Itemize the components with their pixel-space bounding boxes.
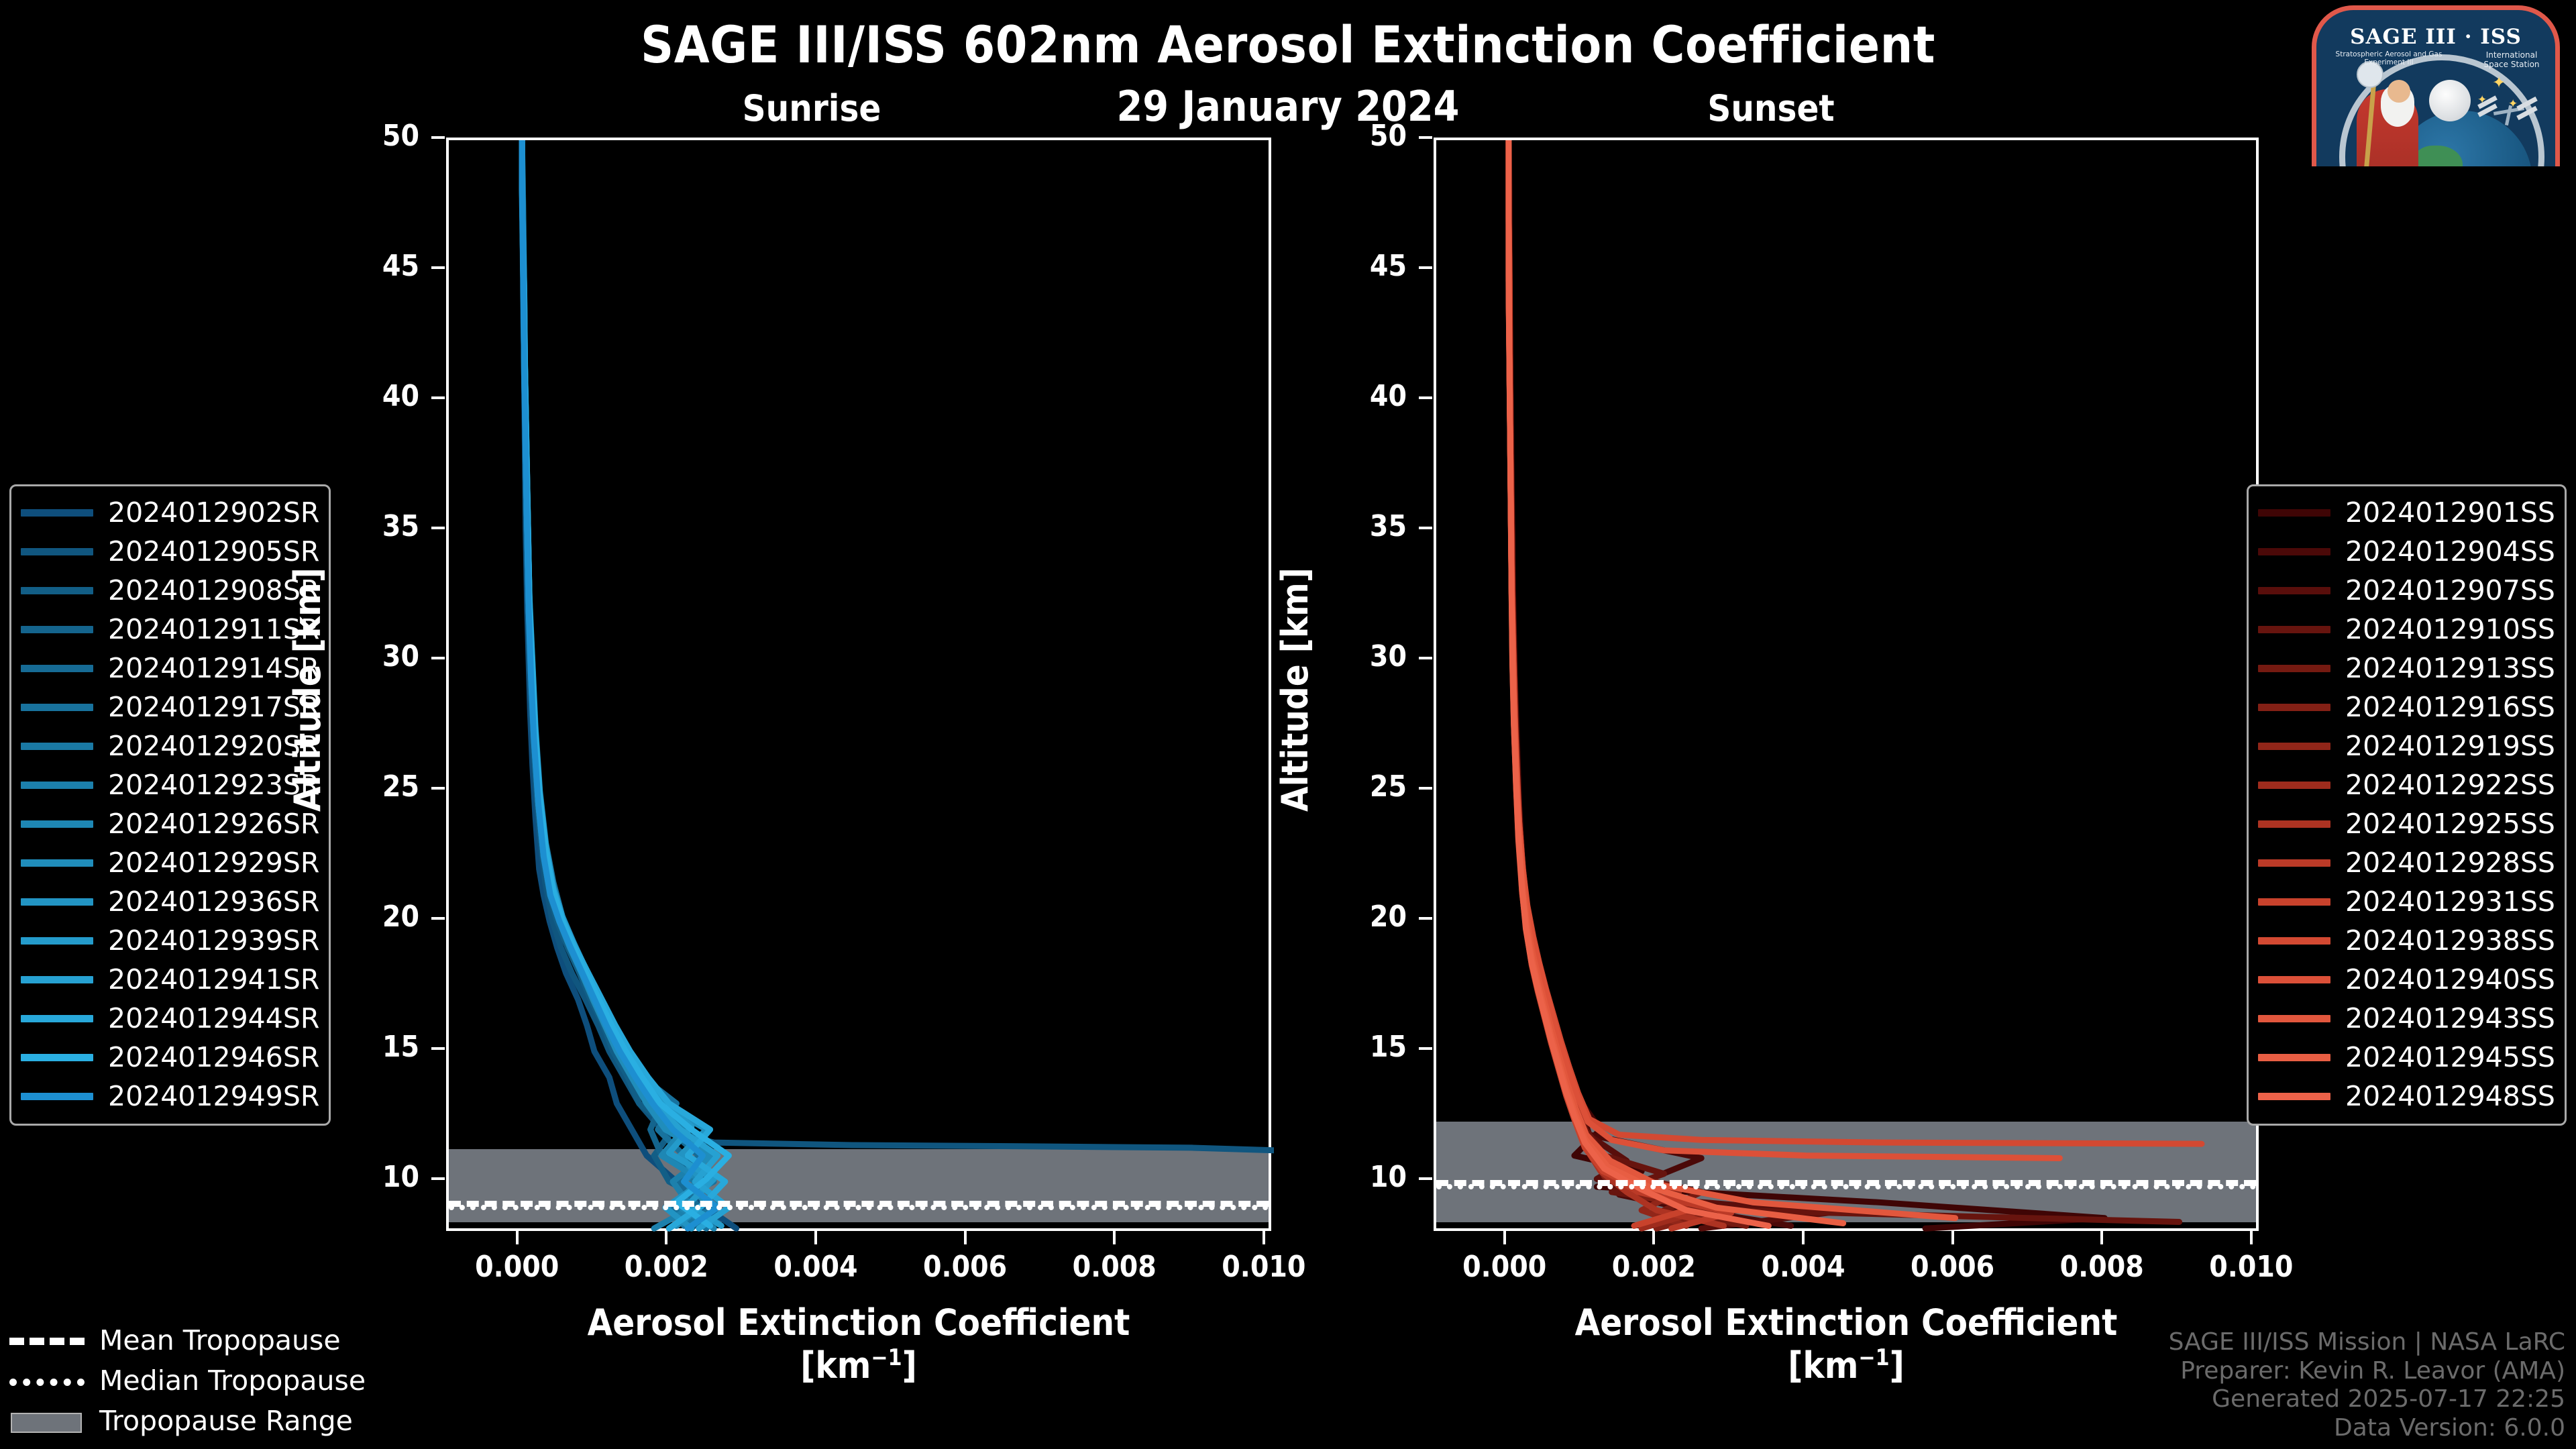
series-line [1509, 140, 2104, 1228]
y-axis-tick-mark [431, 1177, 445, 1180]
y-axis-tick-label: 40 [319, 379, 419, 413]
star-icon: ✦ [2492, 74, 2506, 91]
x-axis-tick-label: 0.004 [742, 1250, 890, 1284]
plot-panel-sunset [1434, 138, 2259, 1231]
x-axis-tick-mark [1263, 1231, 1265, 1244]
x-axis-label-line1: Aerosol Extinction Coefficient [1434, 1301, 2259, 1344]
legend-color-swatch [21, 898, 93, 906]
legend-item[interactable]: 2024012948SS [2258, 1077, 2555, 1116]
x-axis-tick-label: 0.010 [1190, 1250, 1338, 1284]
y-axis-tick-label: 25 [319, 769, 419, 804]
legend-color-swatch [21, 665, 93, 672]
x-axis-label-units: [km−1] [446, 1344, 1271, 1387]
dashed-line-icon [9, 1338, 85, 1345]
legend-item[interactable]: 2024012939SR [21, 921, 319, 960]
series-line [1509, 140, 1746, 1226]
x-axis-tick-mark [1951, 1231, 1954, 1244]
legend-color-swatch [2258, 704, 2330, 711]
sage-iii-iss-mission-patch-logo: ✦ ✦ ✦ SAGE III · ISS Stratospheric Aeros… [2302, 5, 2560, 166]
legend-item-label: 2024012910SS [2345, 613, 2555, 645]
legend-item[interactable]: 2024012929SR [21, 843, 319, 882]
x-axis-label: Aerosol Extinction Coefficient[km−1] [446, 1301, 1271, 1387]
x-axis-tick-label: 0.010 [2178, 1250, 2325, 1284]
legend-item[interactable]: 2024012943SS [2258, 999, 2555, 1038]
x-axis-tick-mark [1652, 1231, 1655, 1244]
profile-curves [1436, 140, 2261, 1234]
y-axis-tick-mark [431, 396, 445, 399]
legend-item-label: 2024012929SR [108, 847, 319, 879]
page-title: SAGE III/ISS 602nm Aerosol Extinction Co… [0, 15, 2576, 74]
y-axis-tick-label: 25 [1306, 769, 1407, 804]
y-axis-label: Altitude [km] [286, 568, 329, 812]
legend-item-label: 2024012936SR [108, 885, 319, 918]
y-axis-tick-mark [1419, 527, 1432, 529]
legend-item-label: 2024012940SS [2345, 963, 2555, 996]
legend-item-label: 2024012931SS [2345, 885, 2555, 918]
y-axis-tick-mark [1419, 917, 1432, 920]
y-axis-tick-label: 30 [1306, 639, 1407, 674]
x-axis-tick-mark [2250, 1231, 2253, 1244]
legend-item[interactable]: 2024012940SS [2258, 960, 2555, 999]
legend-item-label: 2024012913SS [2345, 652, 2555, 684]
legend-color-swatch [21, 782, 93, 789]
y-axis-tick-label: 35 [319, 509, 419, 543]
figure-face [2387, 80, 2410, 103]
legend-item[interactable]: 2024012910SS [2258, 610, 2555, 649]
legend-item-label: 2024012948SS [2345, 1080, 2555, 1112]
y-axis-tick-label: 15 [319, 1030, 419, 1064]
legend-item[interactable]: 2024012922SS [2258, 765, 2555, 804]
legend-color-swatch [21, 859, 93, 867]
tropopause-legend-item: Median Tropopause [9, 1360, 366, 1401]
y-axis-tick-label: 50 [319, 119, 419, 153]
y-axis-tick-mark [1419, 1047, 1432, 1050]
x-axis-label-line1: Aerosol Extinction Coefficient [446, 1301, 1271, 1344]
legend-item-label: 2024012901SS [2345, 496, 2555, 529]
dotted-line-icon [9, 1379, 85, 1386]
legend-item-label: 2024012944SR [108, 1002, 319, 1034]
y-axis-tick-mark [1419, 136, 1432, 139]
legend-color-swatch [21, 1015, 93, 1022]
legend-item-label: 2024012949SR [108, 1080, 319, 1112]
legend-color-swatch [21, 704, 93, 711]
x-axis-tick-mark [665, 1231, 667, 1244]
panel-title-sunrise: Sunrise [604, 87, 1020, 129]
y-axis-tick-label: 15 [1306, 1030, 1407, 1064]
tropopause-legend-item: Mean Tropopause [9, 1320, 366, 1360]
patch-shape: ✦ ✦ ✦ SAGE III · ISS Stratospheric Aeros… [2312, 5, 2560, 166]
legend-color-swatch [21, 937, 93, 945]
legend-item-label: 2024012916SS [2345, 691, 2555, 723]
plot-area-sunset [1434, 138, 2259, 1231]
legend-item-label: 2024012907SS [2345, 574, 2555, 606]
series-line [1509, 140, 1716, 1228]
legend-item[interactable]: 2024012928SS [2258, 843, 2555, 882]
legend-color-swatch [21, 587, 93, 594]
legend-color-swatch [21, 1054, 93, 1061]
series-line [1509, 140, 1791, 1226]
x-axis-tick-label: 0.000 [1431, 1250, 1578, 1284]
legend-item-label: 2024012925SS [2345, 808, 2555, 840]
legend-color-swatch [2258, 548, 2330, 555]
legend-item-label: 2024012922SS [2345, 769, 2555, 801]
plot-area-sunrise [446, 138, 1271, 1231]
series-line [522, 140, 714, 1228]
y-axis-tick-label: 10 [1306, 1160, 1407, 1194]
x-axis-tick-mark [814, 1231, 817, 1244]
legend-item[interactable]: 2024012901SS [2258, 493, 2555, 532]
x-axis-tick-label: 0.004 [1729, 1250, 1877, 1284]
legend-item-label: 2024012943SS [2345, 1002, 2555, 1034]
legend-color-swatch [2258, 859, 2330, 867]
legend-item[interactable]: 2024012931SS [2258, 882, 2555, 921]
x-axis-label: Aerosol Extinction Coefficient[km−1] [1434, 1301, 2259, 1387]
median-tropopause-line [1436, 1184, 2256, 1189]
x-axis-tick-mark [1503, 1231, 1506, 1244]
iss-station-icon [2477, 99, 2542, 135]
x-axis-tick-label: 0.006 [1879, 1250, 2027, 1284]
y-axis-tick-mark [431, 1047, 445, 1050]
series-line [1509, 140, 1686, 1226]
legend-item-label: 2024012941SR [108, 963, 319, 996]
y-axis-tick-mark [1419, 657, 1432, 659]
legend-color-swatch [2258, 937, 2330, 945]
y-axis-tick-label: 20 [319, 900, 419, 934]
legend-item[interactable]: 2024012907SS [2258, 571, 2555, 610]
x-axis-tick-label: 0.008 [2028, 1250, 2176, 1284]
legend-item[interactable]: 2024012919SS [2258, 727, 2555, 765]
legend-item-label: 2024012919SS [2345, 730, 2555, 762]
x-axis-tick-label: 0.000 [443, 1250, 591, 1284]
x-axis-tick-label: 0.006 [892, 1250, 1039, 1284]
y-axis-tick-label: 30 [319, 639, 419, 674]
legend-item[interactable]: 2024012902SR [21, 493, 319, 532]
y-axis-label: Altitude [km] [1274, 568, 1316, 812]
tropopause-legend-label: Median Tropopause [99, 1364, 366, 1397]
x-axis-tick-mark [516, 1231, 519, 1244]
legend-item[interactable]: 2024012911SR [21, 610, 319, 649]
tropopause-legend-marker [9, 1412, 85, 1430]
series-line [1509, 140, 1686, 1226]
legend-item[interactable]: 2024012916SS [2258, 688, 2555, 727]
legend-color-swatch [2258, 587, 2330, 594]
series-line [1509, 140, 2180, 1222]
y-axis-tick-mark [431, 266, 445, 269]
legend-color-swatch [21, 976, 93, 983]
moon-icon [2429, 80, 2471, 121]
x-axis-label-units: [km−1] [1434, 1344, 2259, 1387]
series-line [522, 140, 1274, 1150]
legend-color-swatch [2258, 1015, 2330, 1022]
y-axis-tick-mark [1419, 396, 1432, 399]
legend-item[interactable]: 2024012923SR [21, 765, 319, 804]
legend-item-label: 2024012926SR [108, 808, 319, 840]
legend-item[interactable]: 2024012941SR [21, 960, 319, 999]
legend-item-label: 2024012938SS [2345, 924, 2555, 957]
panel-title-sunset: Sunset [1563, 87, 1979, 129]
legend-item-label: 2024012939SR [108, 924, 319, 957]
legend-item-label: 2024012945SS [2345, 1041, 2555, 1073]
legend-item[interactable]: 2024012946SR [21, 1038, 319, 1077]
y-axis-tick-label: 45 [1306, 249, 1407, 283]
series-line [1509, 140, 2202, 1144]
series-line [1509, 140, 1724, 1226]
y-axis-tick-mark [431, 657, 445, 659]
legend-color-swatch [21, 820, 93, 828]
tropopause-legend-marker [9, 1332, 85, 1349]
x-axis-tick-mark [1802, 1231, 1805, 1244]
legend-color-swatch [21, 1093, 93, 1100]
profile-curves [449, 140, 1274, 1234]
legend-color-swatch [2258, 626, 2330, 633]
series-line [1509, 140, 1768, 1226]
y-axis-tick-label: 50 [1306, 119, 1407, 153]
legend-color-swatch [2258, 743, 2330, 750]
legend-sunset[interactable]: 2024012901SS2024012904SS2024012907SS2024… [2247, 484, 2567, 1126]
legend-color-swatch [2258, 782, 2330, 789]
y-axis-tick-mark [1419, 1177, 1432, 1180]
legend-item[interactable]: 2024012917SR [21, 688, 319, 727]
median-tropopause-line [449, 1205, 1269, 1210]
y-axis-tick-label: 20 [1306, 900, 1407, 934]
legend-item[interactable]: 2024012914SR [21, 649, 319, 688]
y-axis-tick-mark [431, 917, 445, 920]
footer-line-version: Data Version: 6.0.0 [2169, 1414, 2565, 1442]
legend-item-label: 2024012902SR [108, 496, 319, 529]
x-axis-tick-label: 0.002 [592, 1250, 740, 1284]
tropopause-legend-item: Tropopause Range [9, 1401, 366, 1441]
x-axis-tick-label: 0.002 [1580, 1250, 1727, 1284]
legend-color-swatch [2258, 665, 2330, 672]
x-axis-tick-mark [1113, 1231, 1116, 1244]
legend-item[interactable]: 2024012944SR [21, 999, 319, 1038]
legend-color-swatch [21, 509, 93, 517]
legend-color-swatch [2258, 509, 2330, 517]
legend-item[interactable]: 2024012913SS [2258, 649, 2555, 688]
patch-subtitle-station: International Space Station [2475, 50, 2548, 70]
legend-color-swatch [21, 548, 93, 555]
y-axis-tick-mark [431, 787, 445, 790]
y-axis-tick-label: 40 [1306, 379, 1407, 413]
footer-line-generated: Generated 2025-07-17 22:25 [2169, 1385, 2565, 1413]
y-axis-tick-label: 45 [319, 249, 419, 283]
series-line [522, 140, 699, 1228]
y-axis-tick-mark [431, 527, 445, 529]
tropopause-legend-label: Mean Tropopause [99, 1324, 341, 1356]
tropopause-legend-marker [9, 1372, 85, 1389]
legend-color-swatch [2258, 898, 2330, 906]
legend-item-label: 2024012928SS [2345, 847, 2555, 879]
legend-tropopause: Mean TropopauseMedian TropopauseTropopau… [9, 1320, 366, 1441]
series-line [1509, 140, 1731, 1228]
legend-item[interactable]: 2024012920SR [21, 727, 319, 765]
legend-item-label: 2024012904SS [2345, 535, 2555, 568]
x-axis-tick-mark [2100, 1231, 2103, 1244]
legend-item[interactable]: 2024012949SR [21, 1077, 319, 1116]
legend-item[interactable]: 2024012938SS [2258, 921, 2555, 960]
legend-color-swatch [2258, 976, 2330, 983]
y-axis-tick-mark [1419, 266, 1432, 269]
y-axis-tick-label: 10 [319, 1160, 419, 1194]
patch-title: SAGE III · ISS [2316, 25, 2555, 49]
series-line [1509, 140, 1694, 1228]
legend-item[interactable]: 2024012926SR [21, 804, 319, 843]
legend-color-swatch [2258, 820, 2330, 828]
y-axis-tick-mark [1419, 787, 1432, 790]
plot-panel-sunrise [446, 138, 1271, 1231]
legend-item[interactable]: 2024012905SR [21, 532, 319, 571]
tropopause-legend-label: Tropopause Range [99, 1405, 353, 1437]
series-line [1509, 140, 2059, 1158]
legend-item[interactable]: 2024012936SR [21, 882, 319, 921]
y-axis-tick-mark [431, 136, 445, 139]
filled-box-icon [11, 1413, 82, 1433]
legend-item[interactable]: 2024012945SS [2258, 1038, 2555, 1077]
series-line [1509, 140, 1955, 1218]
legend-sunrise[interactable]: 2024012902SR2024012905SR2024012908SR2024… [9, 484, 331, 1126]
legend-color-swatch [21, 626, 93, 633]
legend-item-label: 2024012905SR [108, 535, 319, 568]
legend-item[interactable]: 2024012925SS [2258, 804, 2555, 843]
y-axis-tick-label: 35 [1306, 509, 1407, 543]
legend-color-swatch [21, 743, 93, 750]
x-axis-tick-mark [964, 1231, 967, 1244]
patch-subtitle-experiment: Stratospheric Aerosol and Gas Experiment… [2322, 50, 2456, 66]
legend-item[interactable]: 2024012908SR [21, 571, 319, 610]
x-axis-tick-label: 0.008 [1040, 1250, 1188, 1284]
legend-color-swatch [2258, 1093, 2330, 1100]
legend-item-label: 2024012946SR [108, 1041, 319, 1073]
legend-item[interactable]: 2024012904SS [2258, 532, 2555, 571]
legend-color-swatch [2258, 1054, 2330, 1061]
